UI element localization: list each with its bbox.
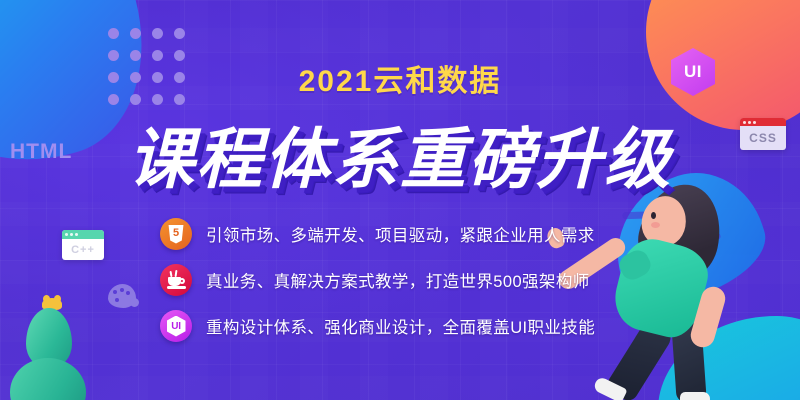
feature-text: 重构设计体系、强化商业设计，全面覆盖UI职业技能 xyxy=(206,314,595,338)
java-coffee-cup xyxy=(167,272,186,289)
html5-shield: 5 xyxy=(168,225,185,244)
feature-list: 5 引领市场、多端开发、项目驱动，紧跟企业用人需求 真业务、真解决方案式教学，打… xyxy=(160,218,595,342)
feature-item-html5: 5 引领市场、多端开发、项目驱动，紧跟企业用人需求 xyxy=(160,218,595,250)
banner-headline: 课程体系重磅升级 xyxy=(0,106,800,202)
java-icon xyxy=(160,264,192,296)
feature-item-ui: UI 重构设计体系、强化商业设计，全面覆盖UI职业技能 xyxy=(160,310,595,342)
banner-copy: 2021云和数据 课程体系重磅升级 5 引领市场、多端开发、项目驱动，紧跟企业用… xyxy=(0,0,800,400)
ui-icon: UI xyxy=(160,310,192,342)
java-steam xyxy=(169,270,172,276)
ui-hexagon: UI xyxy=(167,316,186,337)
html5-icon: 5 xyxy=(160,218,192,250)
banner-subtitle: 2021云和数据 xyxy=(0,56,800,100)
feature-text: 引领市场、多端开发、项目驱动，紧跟企业用人需求 xyxy=(206,222,595,246)
feature-text: 真业务、真解决方案式教学，打造世界500强架构师 xyxy=(206,268,590,292)
java-steam xyxy=(174,269,177,276)
ui-hexagon-text: UI xyxy=(171,321,180,332)
feature-item-java: 真业务、真解决方案式教学，打造世界500强架构师 xyxy=(160,264,595,296)
html5-digit: 5 xyxy=(173,228,179,239)
java-cup-saucer xyxy=(167,286,186,289)
promo-banner: HTML C++ CSS UI 2021云和数据 xyxy=(0,0,800,400)
java-cup-handle xyxy=(179,278,185,284)
